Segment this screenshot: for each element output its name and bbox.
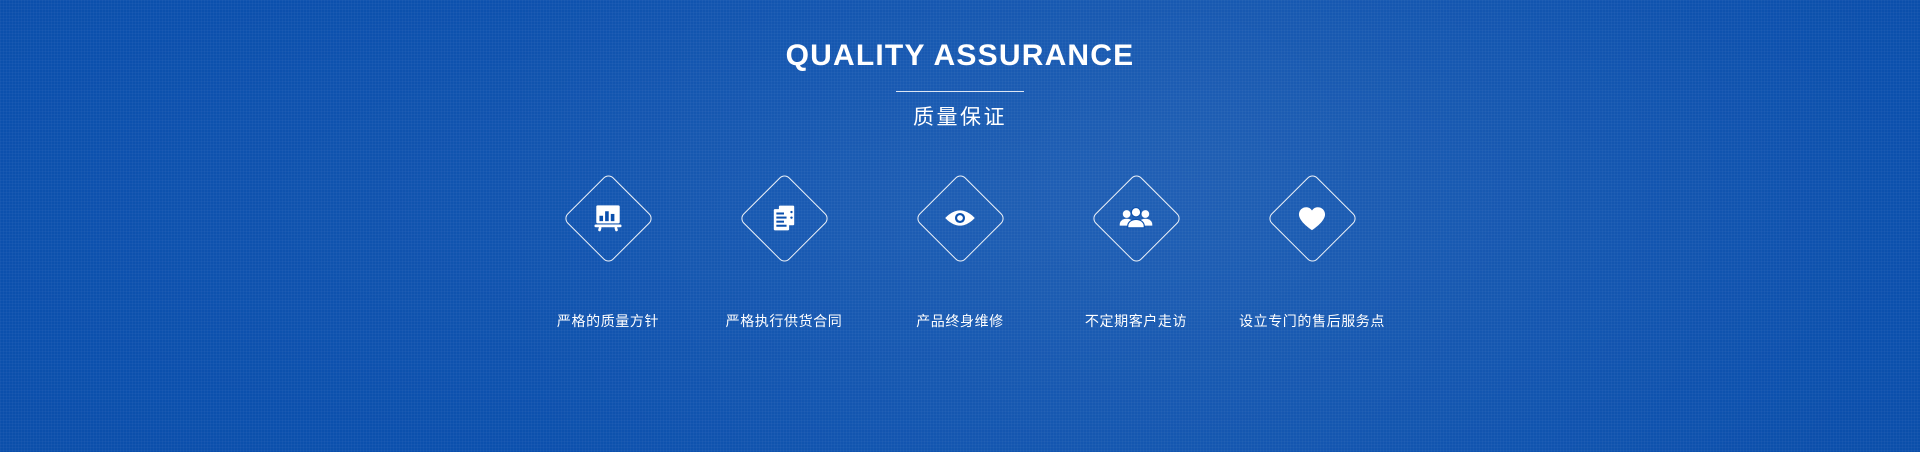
document-contract-icon [764, 198, 804, 238]
diamond-frame-1 [562, 172, 654, 264]
diamond-frame-5 [1266, 172, 1358, 264]
feature-item-quality-policy[interactable]: 严格的质量方针 [520, 172, 696, 328]
banner-content: QUALITY ASSURANCE 质量保证 [0, 0, 1920, 452]
heart-icon [1292, 198, 1332, 238]
feature-list: 严格的质量方针 [520, 172, 1400, 328]
page-title-english: QUALITY ASSURANCE [786, 41, 1135, 71]
diamond-frame-4 [1090, 172, 1182, 264]
feature-label-2: 严格执行供货合同 [726, 314, 843, 328]
title-divider [896, 91, 1024, 92]
feature-item-after-sales-service[interactable]: 设立专门的售后服务点 [1224, 172, 1400, 328]
page-title-chinese: 质量保证 [913, 107, 1007, 128]
eye-icon [940, 198, 980, 238]
diamond-frame-2 [738, 172, 830, 264]
feature-item-customer-visits[interactable]: 不定期客户走访 [1048, 172, 1224, 328]
people-group-icon [1116, 198, 1156, 238]
feature-item-supply-contract[interactable]: 严格执行供货合同 [696, 172, 872, 328]
feature-label-4: 不定期客户走访 [1085, 314, 1187, 328]
feature-item-lifetime-repair[interactable]: 产品终身维修 [872, 172, 1048, 328]
presentation-chart-icon [588, 198, 628, 238]
feature-label-1: 严格的质量方针 [557, 314, 659, 328]
diamond-frame-3 [914, 172, 1006, 264]
feature-label-3: 产品终身维修 [916, 314, 1004, 328]
quality-assurance-banner: QUALITY ASSURANCE 质量保证 [0, 0, 1920, 452]
feature-label-5: 设立专门的售后服务点 [1239, 314, 1385, 328]
